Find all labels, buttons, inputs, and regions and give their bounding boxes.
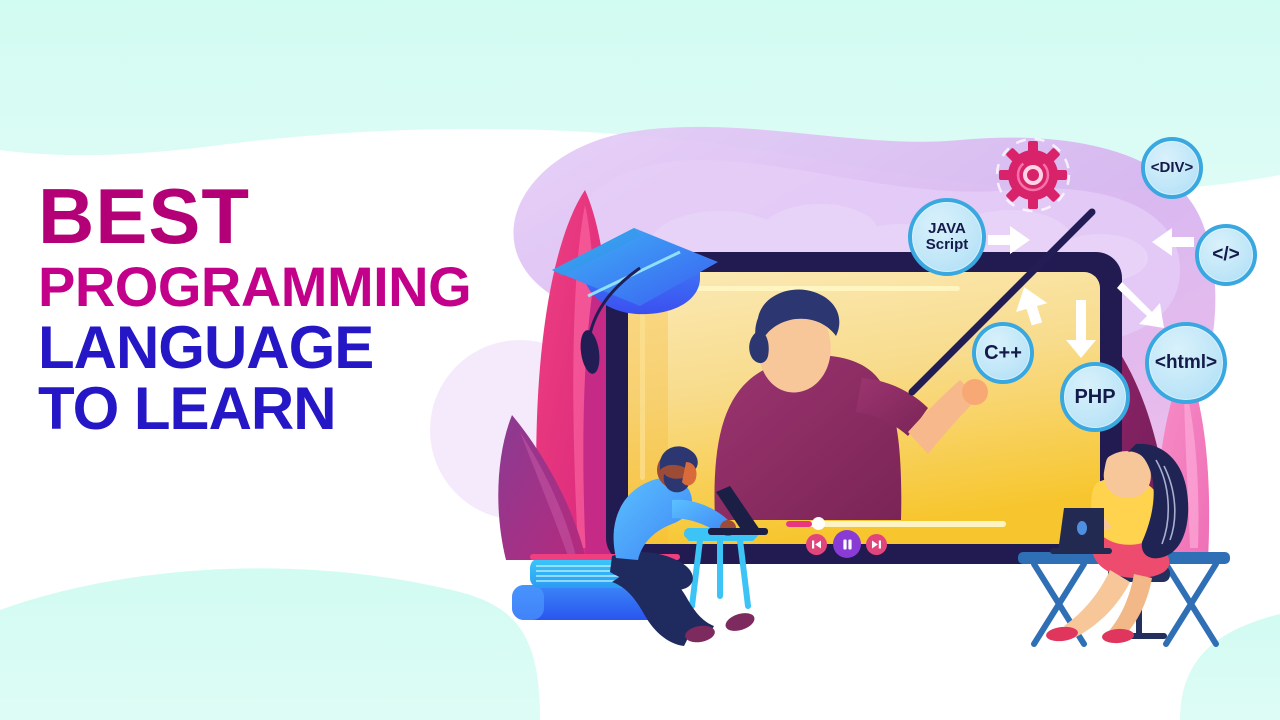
- laptop-left-base: [708, 528, 768, 535]
- bubble-php[interactable]: PHP: [1060, 362, 1130, 432]
- bubble-code[interactable]: </>: [1195, 224, 1257, 286]
- bubble-html-label: <html>: [1155, 353, 1217, 373]
- bubble-html[interactable]: <html>: [1145, 322, 1227, 404]
- arrow-right: [1152, 228, 1194, 256]
- laptop-right-logo: [1077, 521, 1087, 535]
- bubble-div[interactable]: <DIV>: [1141, 137, 1203, 199]
- headline-block: BEST PROGRAMMING LANGUAGE TO LEARN: [38, 178, 558, 439]
- headline-line-programming: PROGRAMMING: [38, 260, 558, 315]
- shoe-right: [723, 610, 756, 634]
- video-progress-knob[interactable]: [812, 517, 825, 530]
- next-button[interactable]: [866, 534, 887, 555]
- pause-button[interactable]: [833, 530, 861, 558]
- bubble-javascript-line2: Script: [926, 237, 969, 253]
- arrow-down-right: [1117, 282, 1164, 328]
- bubble-php-label: PHP: [1074, 387, 1115, 408]
- bubble-div-label: <DIV>: [1151, 160, 1194, 176]
- bubble-javascript[interactable]: JAVA Script: [908, 198, 986, 276]
- previous-button[interactable]: [806, 534, 827, 555]
- bubble-cpp[interactable]: C++: [972, 322, 1034, 384]
- book-bottom-spine: [512, 585, 544, 620]
- headline-line-best: BEST: [38, 178, 558, 254]
- headline-line-tolearn: TO LEARN: [38, 380, 558, 439]
- previous-icon: [810, 538, 823, 551]
- screen-highlight-top: [660, 286, 960, 291]
- pause-icon: [840, 537, 855, 552]
- next-icon: [870, 538, 883, 551]
- arrow-left: [988, 226, 1030, 254]
- stool: [690, 538, 752, 606]
- gear-icon: [997, 139, 1069, 211]
- teacher-hand: [962, 379, 988, 405]
- bubble-cpp-label: C++: [984, 343, 1022, 364]
- video-progress-fill: [786, 521, 812, 527]
- poster-canvas: BEST PROGRAMMING LANGUAGE TO LEARN JAVA …: [0, 0, 1280, 720]
- bubble-code-label: </>: [1212, 245, 1239, 265]
- shoe-right-2: [1102, 628, 1135, 644]
- headline-line-language: LANGUAGE: [38, 319, 558, 378]
- bubble-javascript-line1: JAVA: [928, 221, 966, 237]
- laptop-right-base: [1050, 548, 1112, 554]
